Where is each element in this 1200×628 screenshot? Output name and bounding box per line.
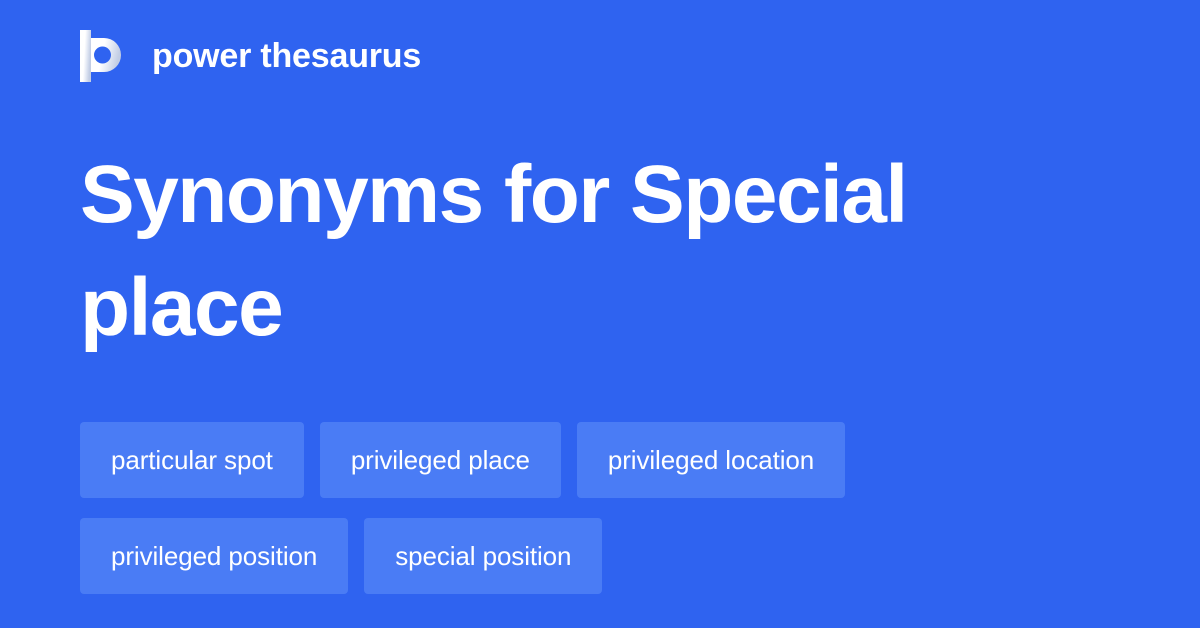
synonym-pill[interactable]: privileged place — [320, 422, 561, 498]
brand-header[interactable]: power thesaurus — [80, 30, 421, 82]
share-card-canvas: power thesaurus Synonyms for Special pla… — [0, 0, 1200, 628]
synonym-row: privileged position special position — [80, 518, 1140, 594]
synonym-pill[interactable]: privileged location — [577, 422, 845, 498]
synonym-pill[interactable]: privileged position — [80, 518, 348, 594]
power-thesaurus-b-logo-icon — [80, 30, 126, 82]
synonym-pill[interactable]: special position — [364, 518, 602, 594]
synonym-row: particular spot privileged place privile… — [80, 422, 1140, 498]
page-title: Synonyms for Special place — [80, 138, 1080, 364]
synonym-list: particular spot privileged place privile… — [80, 422, 1140, 594]
brand-name: power thesaurus — [152, 39, 421, 73]
synonym-pill[interactable]: particular spot — [80, 422, 304, 498]
